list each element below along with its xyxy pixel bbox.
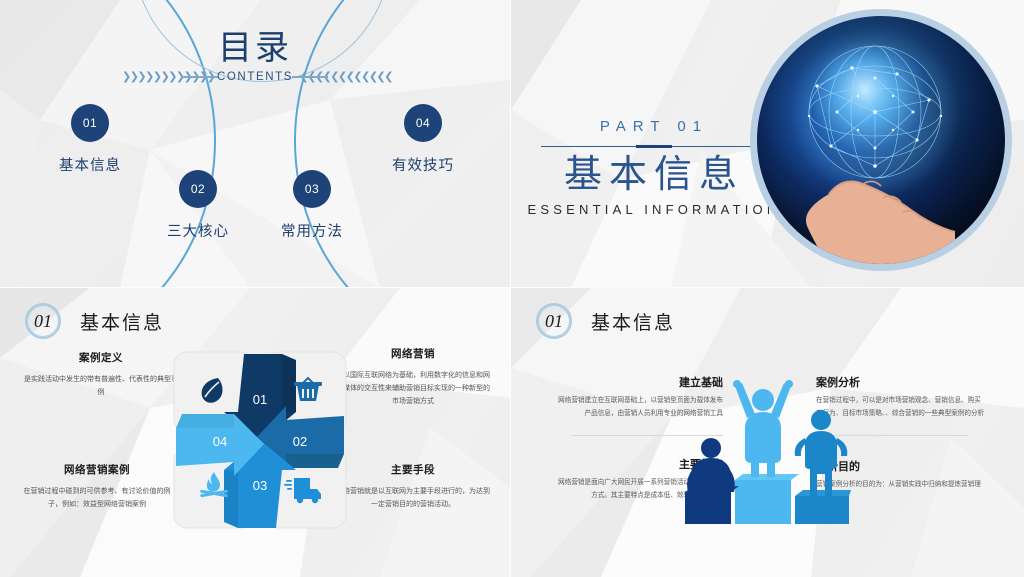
podium-block-second [795,496,849,524]
block-body: 在营销过程中碰到的可供参考、有讨论价值的例子，例如：效益型网络营销案例 [18,486,176,512]
figure-first-place [733,380,793,477]
block-body: 是以国际互联网络为基础，利用数字化的信息和网络媒体的交互性来辅助营销目标实现的一… [334,370,492,409]
toc-number-badge: 04 [404,104,442,142]
block-heading: 主要手段 [334,462,492,477]
section-number: 01 [22,300,64,342]
slide-header: 01 基本信息 [22,300,164,342]
svg-text:01: 01 [253,392,267,407]
toc-number-badge: 03 [293,170,331,208]
section-number: 01 [533,300,575,342]
toc-item-03[interactable]: 03 常用方法 [257,170,367,241]
podium-block-first [735,480,791,524]
section-title: 基本信息 [591,308,675,335]
section-title: 基本信息 [80,308,164,335]
text-block-main-means: 主要手段 网络营销就是以互联网为主要手段进行的，为达到一定营销目的的营销活动。 [334,462,492,512]
text-block-case-definition: 案例定义 是实践活动中发生的带有普遍性、代表性的典型事例 [22,350,180,400]
winners-podium-illustration [683,370,851,530]
text-block-network-marketing: 网络营销 是以国际互联网络为基础，利用数字化的信息和网络媒体的交互性来辅助营销目… [334,346,492,409]
pinwheel-diagram[interactable]: 01 02 03 04 [172,350,348,532]
globe-photo-ring [750,9,1012,271]
toc-item-01[interactable]: 01 基本信息 [35,104,145,175]
page-title: 目录 [0,30,510,67]
text-block-marketing-case: 网络营销案例 在营销过程中碰到的可供参考、有讨论价值的例子，例如：效益型网络营销… [18,462,176,512]
slide-part-divider[interactable]: PART 01 基本信息 ESSENTIAL INFORMATION [511,0,1024,288]
scribble-circle-icon: 01 [533,300,575,342]
slide-pinwheel[interactable]: 01 基本信息 案例定义 是实践活动中发生的带有普遍性、代表性的典型事例 网络营… [0,288,511,577]
figure-second-place [795,410,848,496]
svg-text:02: 02 [293,434,307,449]
part-title-zh: 基本信息 [519,153,789,198]
svg-text:04: 04 [213,434,227,449]
slide-podium[interactable]: 01 基本信息 建立基础 网络营销建立在互联网基础上，以营销型页面为载体发布产品… [511,288,1024,577]
divider-line-right [292,76,328,78]
part-kicker: PART 01 [519,118,789,135]
svg-text:03: 03 [253,478,267,493]
toc-number-badge: 02 [179,170,217,208]
podium-block-third [685,492,731,524]
slide-grid: 目录 CONTENTS ❯❯❯❯❯❯❯❯❯❯❯❯ ❮❮❮❮❮❮❮❮❮❮❮❮ 01… [0,0,1024,577]
contents-heading: 目录 CONTENTS [0,30,510,83]
toc-number-badge: 01 [71,104,109,142]
toc-item-label: 常用方法 [257,220,367,241]
page-subtitle: CONTENTS [0,71,510,83]
toc-item-04[interactable]: 04 有效技巧 [368,104,478,175]
part-title-en: ESSENTIAL INFORMATION [519,202,789,217]
part-rule [519,142,789,151]
block-heading: 网络营销案例 [18,462,176,477]
scribble-circle-icon: 01 [22,300,64,342]
block-body: 网络营销就是以互联网为主要手段进行的，为达到一定营销目的的营销活动。 [334,486,492,512]
toc-item-label: 三大核心 [143,220,253,241]
block-heading: 案例定义 [22,350,180,365]
figure-third-place [687,438,735,496]
toc-item-02[interactable]: 02 三大核心 [143,170,253,241]
block-body: 是实践活动中发生的带有普遍性、代表性的典型事例 [22,374,180,400]
divider-line-left [182,76,218,78]
toc-item-label: 有效技巧 [368,154,478,175]
part-heading-group: PART 01 基本信息 ESSENTIAL INFORMATION [519,118,789,217]
toc-item-label: 基本信息 [35,154,145,175]
globe-network-in-hand-photo [757,16,1005,264]
slide-contents[interactable]: 目录 CONTENTS ❯❯❯❯❯❯❯❯❯❯❯❯ ❮❮❮❮❮❮❮❮❮❮❮❮ 01… [0,0,511,288]
slide-header: 01 基本信息 [533,300,675,342]
block-heading: 网络营销 [334,346,492,361]
